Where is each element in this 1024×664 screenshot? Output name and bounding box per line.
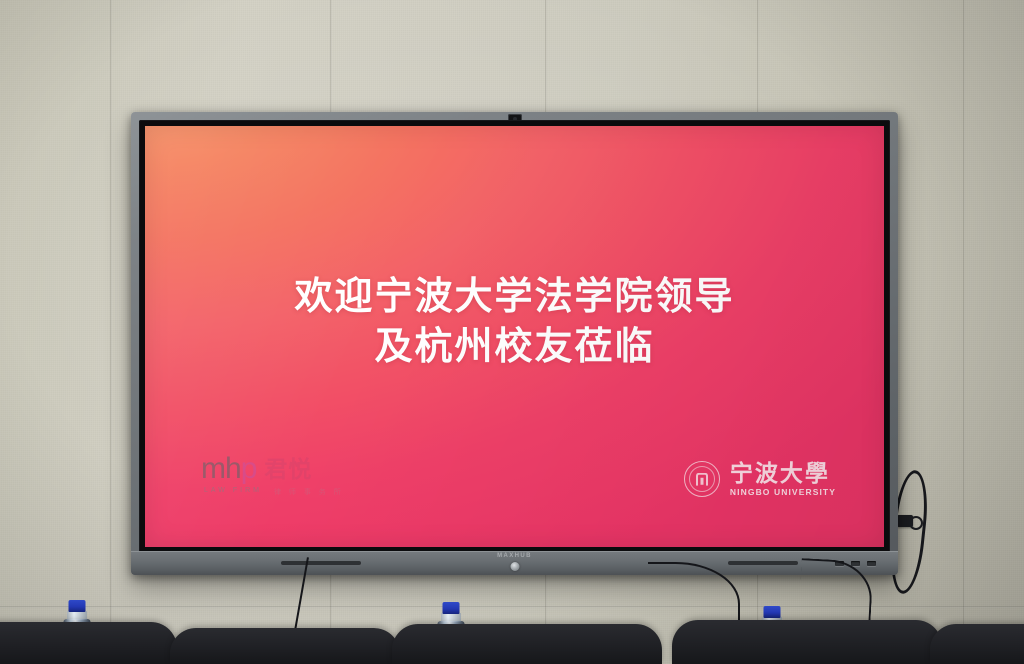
bottle-cap [764,606,781,618]
university-name-chinese: 宁波大學 [730,462,836,485]
university-seal-icon [684,461,720,497]
presentation-slide[interactable]: 欢迎宁波大学法学院领导 及杭州校友莅临 mhp 君悦 LAW FIRM 律 师 … [145,126,884,547]
bottle-neck [67,611,87,620]
slide-title-line-2: 及杭州校友莅临 [145,322,884,372]
mhp-subtitle-chinese: 律 师 事 务 所 [274,487,344,497]
interactive-flat-panel-display[interactable]: 欢迎宁波大学法学院领导 及杭州校友莅临 mhp 君悦 LAW FIRM 律 师 … [131,112,898,575]
conference-room-scene: 欢迎宁波大学法学院领导 及杭州校友莅临 mhp 君悦 LAW FIRM 律 师 … [0,0,1024,664]
power-indicator[interactable] [510,562,519,571]
university-name-english: NINGBO UNIVERSITY [730,488,836,497]
conference-chair [930,624,1024,664]
display-bottom-bezel: MAXHUB [131,551,898,575]
conference-chair [0,622,177,664]
ningbo-university-logo: 宁波大學 NINGBO UNIVERSITY [684,461,836,497]
mhp-wordmark-p: p [241,452,257,485]
cable-clip [897,515,913,527]
seal-gate-glyph [696,473,708,486]
university-name-block: 宁波大學 NINGBO UNIVERSITY [730,462,836,497]
mhp-wordmark: mhp [201,455,256,483]
speaker-grille [728,561,798,565]
mhp-subtitle-english: LAW FIRM [204,487,262,497]
mhp-wordmark-mh: mh [201,452,241,485]
mhp-logo-row: mhp 君悦 [201,455,344,483]
conference-chair [672,620,942,664]
slide-title-line-1: 欢迎宁波大学法学院领导 [145,272,884,322]
display-brand-label: MAXHUB [497,553,532,559]
slide-title: 欢迎宁波大学法学院领导 及杭州校友莅临 [145,272,884,372]
bottle-cap [69,600,86,612]
display-port[interactable] [867,561,876,566]
mhp-chinese-name: 君悦 [264,458,312,483]
mhp-law-firm-logo: mhp 君悦 LAW FIRM 律 师 事 务 所 [201,455,344,497]
mhp-subtitle-row: LAW FIRM 律 师 事 务 所 [201,487,344,497]
bottle-cap [443,602,460,614]
bottle-neck [441,613,461,622]
conference-chair [170,628,400,664]
conference-chair [392,624,662,664]
